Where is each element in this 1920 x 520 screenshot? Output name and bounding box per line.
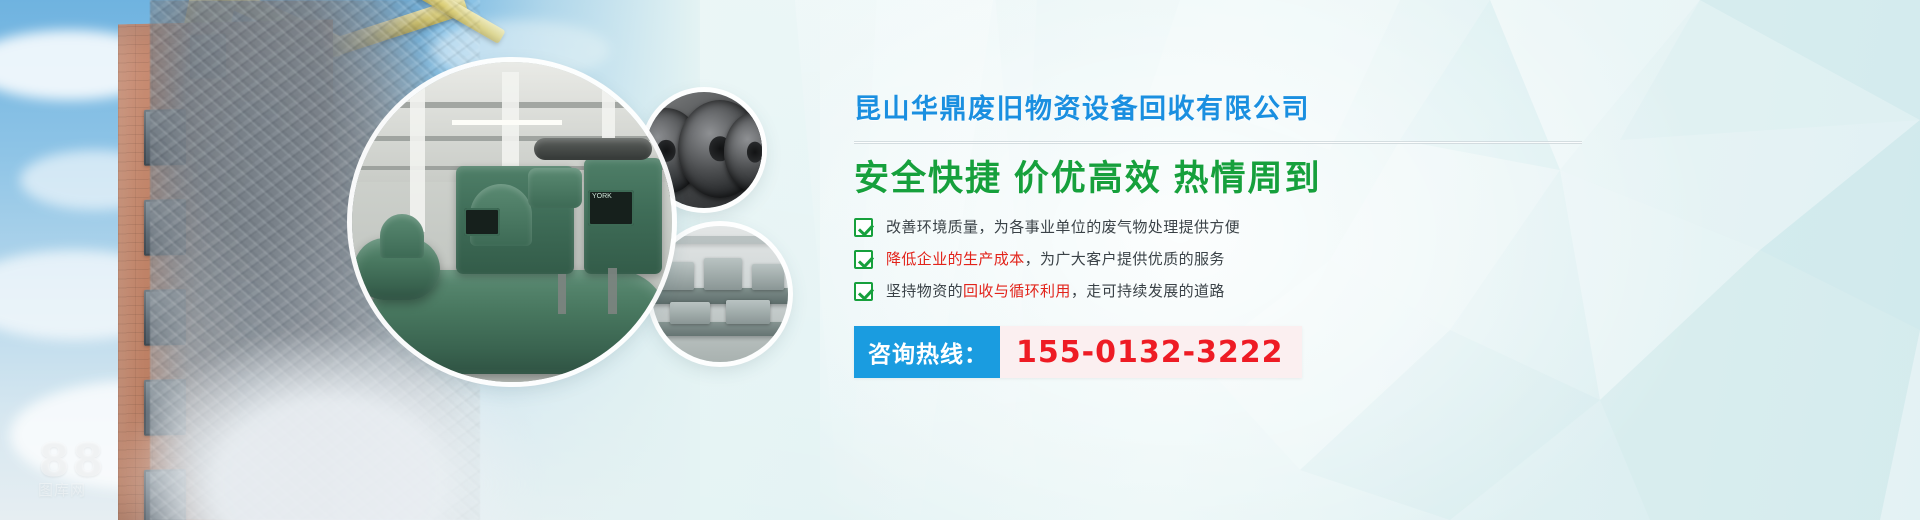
equipment-unit bbox=[726, 300, 770, 324]
feature-highlight: 回收与循环利用 bbox=[963, 283, 1071, 300]
light-tube bbox=[452, 120, 562, 125]
feature-post: ，为广大客户提供优质的服务 bbox=[1025, 251, 1225, 268]
hotline-box[interactable]: 咨询热线： 155-0132-3222 bbox=[854, 326, 1302, 378]
chiller-elbow-pipe bbox=[380, 214, 424, 258]
check-icon bbox=[854, 282, 873, 301]
support-leg bbox=[608, 268, 617, 314]
company-slogan: 安全快捷 价优高效 热情周到 bbox=[854, 161, 1854, 196]
feature-text: 坚持物资的回收与循环利用，走可持续发展的道路 bbox=[886, 283, 1225, 301]
promo-banner: 88 图库网 bbox=[0, 0, 1920, 520]
feature-pre: 坚持物资的 bbox=[886, 283, 963, 300]
feature-list: 改善环境质量，为各事业单位的废气物处理提供方便 降低企业的生产成本，为广大客户提… bbox=[854, 218, 1854, 301]
ceiling-beam bbox=[652, 236, 788, 244]
hotline-label: 咨询热线： bbox=[854, 326, 1000, 378]
check-icon bbox=[854, 250, 873, 269]
feature-text: 改善环境质量，为各事业单位的废气物处理提供方便 bbox=[886, 219, 1240, 237]
feature-text: 降低企业的生产成本，为广大客户提供优质的服务 bbox=[886, 251, 1225, 269]
feature-post: ，走可持续发展的道路 bbox=[1071, 283, 1225, 300]
company-title: 昆山华鼎废旧物资设备回收有限公司 bbox=[854, 96, 1854, 123]
list-item: 坚持物资的回收与循环利用，走可持续发展的道路 bbox=[854, 282, 1854, 301]
column bbox=[410, 82, 425, 232]
york-brand-label: YORK bbox=[588, 190, 634, 203]
list-item: 改善环境质量，为各事业单位的废气物处理提供方便 bbox=[854, 218, 1854, 237]
pipe-run bbox=[534, 138, 652, 160]
watermark-text: 88 bbox=[38, 433, 106, 487]
content-block: 昆山华鼎废旧物资设备回收有限公司 安全快捷 价优高效 热情周到 改善环境质量，为… bbox=[854, 96, 1854, 378]
equipment-unit bbox=[704, 258, 742, 290]
workbench bbox=[652, 322, 788, 336]
equipment-unit bbox=[752, 264, 784, 290]
list-item: 降低企业的生产成本，为广大客户提供优质的服务 bbox=[854, 250, 1854, 269]
check-icon bbox=[854, 218, 873, 237]
watermark: 88 图库网 bbox=[38, 437, 106, 498]
feature-pre: 改善环境质量，为各事业单位的废气物处理提供方便 bbox=[886, 219, 1240, 236]
circle-photo-machine-room: YORK bbox=[352, 62, 672, 382]
feature-highlight: 降低企业的生产成本 bbox=[886, 251, 1025, 268]
hotline-number[interactable]: 155-0132-3222 bbox=[1000, 326, 1302, 378]
support-leg bbox=[558, 274, 566, 314]
chiller-control-panel bbox=[464, 208, 500, 236]
equipment-unit bbox=[670, 302, 710, 324]
divider-rule bbox=[854, 141, 1582, 144]
chiller-control-panel-york: YORK bbox=[588, 190, 634, 226]
circle-photo-workshop bbox=[652, 226, 788, 362]
chiller-motor bbox=[528, 168, 582, 208]
